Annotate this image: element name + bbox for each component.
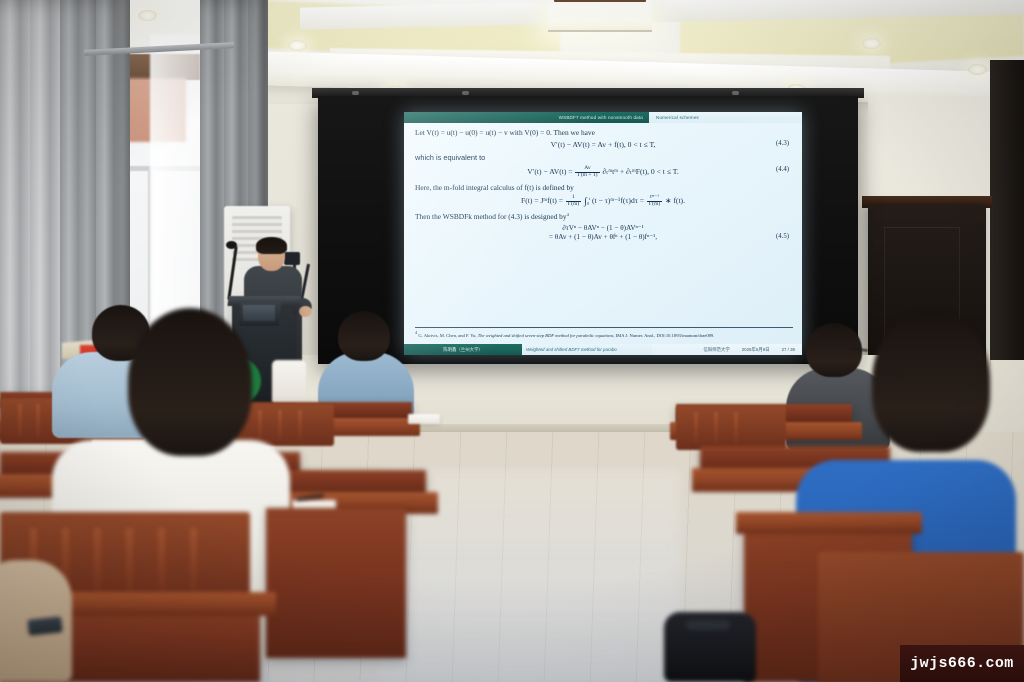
bench-slat (714, 412, 718, 444)
laptop-screen-glow (243, 305, 275, 321)
slide-footer-meta: 信阳师范大学 2025年6月9日 27 / 39 (652, 344, 802, 355)
desk-surface (736, 512, 922, 534)
equation-F-tail: ∗ f(t). (665, 196, 685, 205)
slide-footer-bar: 陈明鑫（兰州大学） Weighted and shifted BDF7 meth… (404, 344, 802, 355)
equation-4-5-number: (4.5) (776, 233, 789, 240)
slide-header-section-title: WSBDF7 method with nonsmooth data (404, 115, 649, 120)
downlight-icon (862, 38, 881, 49)
bench-slat (36, 404, 40, 438)
audience-head (338, 311, 390, 361)
slide-header-subsection: Numerical schemes (649, 112, 802, 123)
slide-line-1: Let V(t) = u(t) − u(0) = u(t) − v with V… (415, 129, 791, 136)
equation-4-4-lhs: V′(t) − AV(t) = (527, 167, 572, 176)
bench-slat (190, 528, 197, 592)
tripod-head (284, 252, 300, 265)
footnote-title: The weighted and shifted seven-step BDF … (478, 333, 614, 338)
presentation-slide: WSBDF7 method with nonsmooth data Numeri… (404, 112, 802, 355)
desk-front-center (266, 508, 406, 658)
glasses-icon (259, 252, 283, 258)
lecture-hall-photo: WSBDF7 method with nonsmooth data Numeri… (0, 0, 1024, 682)
rail-fitting-icon (732, 91, 739, 95)
slide-line-4-text: Then the WSBDFk method for (4.3) is desi… (415, 212, 567, 221)
integral-upper-limit: t (589, 196, 590, 201)
ceiling-panel-light (548, 0, 652, 32)
equation-4-3-number: (4.3) (776, 140, 789, 147)
equation-integral-definition: F(t) = Jᵐf(t) = 1 Γ(m) ∫0t (t − τ)ᵐ⁻¹f(τ… (415, 195, 791, 208)
bench-slat (258, 410, 262, 440)
audience-head (872, 310, 990, 452)
bench-slat (158, 528, 165, 592)
bench-slat (298, 410, 302, 440)
bench-slat (278, 410, 282, 440)
equation-F-frac1-denominator: Γ(m) (566, 202, 581, 208)
bench-back (676, 406, 786, 450)
audience-head (128, 308, 252, 456)
equation-F-integrand: (t − τ)ᵐ⁻¹f(τ)dτ = (592, 196, 644, 205)
slide-header-bar: WSBDF7 method with nonsmooth data Numeri… (404, 112, 802, 123)
equation-4-4: V′(t) − AV(t) = Av Γ(m + 1) ∂ₜᵐtᵐ + ∂ₜᵐF… (415, 166, 791, 179)
microphone-head-icon (226, 241, 237, 249)
water-kettle (272, 360, 306, 404)
watermark: jwjs666.com (900, 645, 1024, 682)
slide-content: Let V(t) = u(t) − u(0) = u(t) − v with V… (404, 123, 802, 341)
downlight-icon (138, 10, 157, 21)
notebook (408, 414, 440, 424)
slide-footnote: 4 G. Akrivis, M. Chen, and F. Yu, The we… (415, 327, 793, 339)
footnote-journal: , IMA J. Numer. Anal., DOI:10.1093/imanu… (613, 333, 714, 338)
presenter-hand (299, 306, 312, 317)
rail-fitting-icon (462, 91, 469, 95)
footnote-marker: 4 (415, 330, 417, 335)
equation-4-5: ∂τVⁿ − θAVⁿ − (1 − θ)AVⁿ⁻¹ = θAv + (1 − … (415, 224, 791, 242)
integral-lower-limit: 0 (587, 201, 589, 206)
footnote-authors: G. Akrivis, M. Chen, and F. Yu, (418, 333, 476, 338)
slide-footer-presenter: 陈明鑫（兰州大学） (404, 344, 522, 355)
equation-4-4-number: (4.4) (776, 166, 789, 173)
slide-footer-venue: 信阳师范大学 (703, 347, 729, 353)
footnote-marker-inline: 4 (567, 212, 569, 217)
downlight-icon (968, 64, 987, 75)
slide-line-3: Here, the m-fold integral calculus of f(… (415, 184, 791, 191)
bench-slat (18, 404, 22, 438)
bench-slat (694, 412, 698, 444)
equation-4-4-fraction: Av Γ(m + 1) (575, 166, 599, 179)
equation-4-5-line-2: = θAv + (1 − θ)Av + θfⁿ + (1 − θ)fⁿ⁻¹, (415, 233, 791, 242)
downlight-icon (288, 40, 307, 51)
slide-footer-date: 2025年6月9日 (742, 347, 770, 353)
equation-4-4-rhs: ∂ₜᵐtᵐ + ∂ₜᵐF(t), 0 < t ≤ T. (602, 167, 678, 176)
bench-slat (126, 528, 133, 592)
equation-F-fraction-1: 1 Γ(m) (566, 195, 581, 208)
slide-line-2: which is equivalent to (415, 154, 791, 161)
equation-4-3-body: V′(t) − AV(t) = Av + f(t), 0 < t ≤ T, (551, 140, 656, 149)
slide-footer-talk-title: Weighted and shifted BDF7 method for par… (522, 344, 652, 355)
equation-4-5-line-1: ∂τVⁿ − θAVⁿ − (1 − θ)AVⁿ⁻¹ (415, 224, 791, 233)
equation-4-4-denominator: Γ(m + 1) (575, 173, 599, 179)
equation-F-fraction-2: tᵐ⁻¹ Γ(m) (647, 195, 662, 208)
equation-F-frac2-denominator: Γ(m) (647, 202, 662, 208)
backpack (664, 612, 756, 682)
rail-fitting-icon (352, 91, 359, 95)
slide-line-4: Then the WSBDFk method for (4.3) is desi… (415, 213, 791, 220)
bench-slat (734, 412, 738, 444)
bench-slat (94, 528, 101, 592)
slide-footer-page-number: 27 / 39 (782, 347, 795, 352)
equation-F-lhs: F(t) = Jᵐf(t) = (521, 196, 563, 205)
right-dark-wall (990, 60, 1024, 360)
backpack-strap (686, 620, 730, 630)
watermark-text: jwjs666.com (910, 655, 1013, 672)
equation-4-3: V′(t) − AV(t) = Av + f(t), 0 < t ≤ T, (4… (415, 140, 791, 149)
